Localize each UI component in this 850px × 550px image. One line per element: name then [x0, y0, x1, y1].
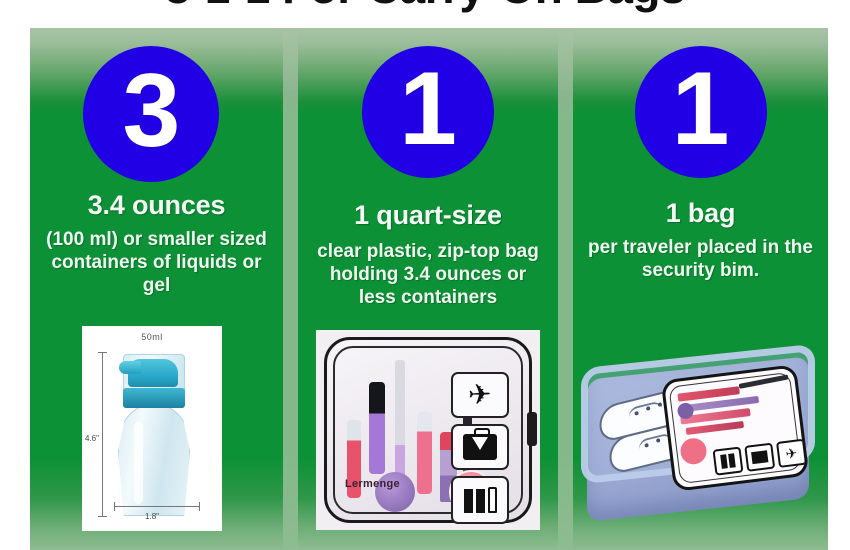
badge-label: 1 [672, 57, 730, 161]
panel-body: per traveler placed in the security bim. [587, 236, 814, 282]
travel-pump-bottle-photo: 50ml 4.6" 1.8" [82, 326, 222, 531]
infographic-root: 3-1-1 For Carry-On Bags 3 3.4 ounces (10… [0, 0, 850, 550]
width-dimension-line [114, 506, 200, 507]
bottle-pump-head [128, 359, 178, 387]
cosmetic-mascara [369, 382, 385, 474]
clear-zip-top-cosmetic-bag-photo: ✈ Lermenge [316, 330, 540, 530]
airplane-icon: ✈ [451, 372, 509, 418]
panel-divider-1 [283, 28, 298, 550]
bottle-highlight [134, 422, 143, 504]
toiletry-bottles-icon [451, 476, 509, 524]
green-board: 3 3.4 ounces (100 ml) or smaller sized c… [30, 28, 828, 550]
height-dimension-line [102, 352, 103, 517]
bag-outline: ✈ Lermenge [324, 337, 532, 523]
panel-heading: 3.4 ounces [30, 190, 283, 221]
badge-number-1-per-traveler: 1 [635, 46, 767, 178]
panel-quart-size-bag: 1 1 quart-size clear plastic, zip-top ba… [298, 28, 558, 550]
zipper-pull-icon [527, 412, 537, 446]
panel-3-ounces: 3 3.4 ounces (100 ml) or smaller sized c… [30, 28, 283, 550]
panel-body: clear plastic, zip-top bag holding 3.4 o… [310, 240, 546, 310]
bottle-size-label: 50ml [82, 332, 222, 342]
toiletry-bag-in-bin: ✈ [661, 364, 810, 492]
cosmetic-brush-wand [395, 360, 405, 478]
panel-body: (100 ml) or smaller sized containers of … [40, 228, 273, 298]
bottle-width-label: 1.8" [82, 512, 222, 521]
bag-item-blush [679, 437, 708, 466]
bottle-body [118, 404, 190, 516]
badge-label: 3 [123, 59, 181, 163]
security-bin-illustration: ✈ [581, 346, 821, 538]
bag-item-4 [686, 421, 744, 435]
panel-divider-2 [558, 28, 573, 550]
bottle-height-label: 4.6" [85, 434, 99, 443]
panel-heading: 1 bag [573, 198, 828, 229]
page-title: 3-1-1 For Carry-On Bags [165, 0, 685, 14]
badge-number-3: 3 [83, 46, 219, 182]
carry-on-case-icon [744, 443, 775, 472]
cosmetic-lipgloss-pink [417, 412, 432, 494]
bag-brand-label: Lermenge [345, 478, 400, 490]
bottles-icon [713, 446, 744, 475]
panel-one-bag-per-traveler: 1 1 bag per traveler placed in the secur… [573, 28, 828, 550]
panel-heading: 1 quart-size [298, 200, 558, 231]
badge-label: 1 [399, 57, 457, 161]
badge-number-1-bag-size: 1 [362, 46, 494, 178]
bottle-collar [123, 388, 185, 408]
page-title-strip: 3-1-1 For Carry-On Bags [0, 0, 850, 22]
bag-item-pencil [739, 374, 789, 388]
carry-on-case-icon [451, 424, 509, 470]
airplane-icon: ✈ [776, 439, 807, 468]
